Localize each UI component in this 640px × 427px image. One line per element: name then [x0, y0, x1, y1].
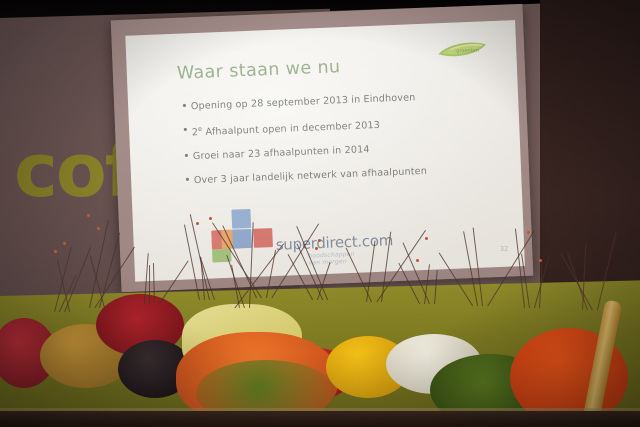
- list-item-text: Over 3 jaar landelijk netwerk van afhaal…: [194, 166, 428, 186]
- bullet-marker: •: [182, 124, 189, 135]
- svg-text:groenten: groenten: [456, 48, 479, 55]
- list-item-text: Groei naar 23 afhaalpunten in 2014: [193, 144, 370, 162]
- logo-tiles: [210, 208, 274, 256]
- slide-bullet-list: • Opening op 28 september 2013 in Eindho…: [181, 88, 515, 199]
- dried-branch: [149, 265, 150, 304]
- bullet-marker: •: [181, 100, 188, 111]
- logo-wordmark: superdirect.com: [275, 231, 393, 254]
- list-item: • Groei naar 23 afhaalpunten in 2014: [183, 139, 513, 163]
- list-item: • 2e Afhaalpunt open in december 2013: [182, 112, 512, 138]
- list-item: • Opening op 28 september 2013 in Eindho…: [181, 88, 511, 112]
- dried-berry: [527, 231, 530, 234]
- list-item-text: Opening op 28 september 2013 in Eindhove…: [191, 92, 416, 112]
- logo-tile-blue-top: [231, 209, 251, 229]
- dried-berry: [425, 237, 428, 240]
- list-item-text: 2e Afhaalpunt open in december 2013: [192, 118, 381, 139]
- slide-page-number: 32: [500, 245, 509, 253]
- dried-berry: [196, 222, 199, 225]
- photo-scene: cof groenten Waar staan we nu • Opening …: [0, 0, 640, 427]
- projection-screen: groenten Waar staan we nu • Opening op 2…: [111, 4, 534, 292]
- stage-front-strip: [0, 411, 640, 427]
- logo-tile-red-right: [253, 228, 273, 248]
- superdirect-logo: superdirect.com boodschappen van morgen: [210, 208, 274, 256]
- bullet-marker: •: [184, 174, 191, 185]
- dried-berry: [97, 227, 100, 230]
- green-leaf-logo: groenten: [436, 39, 495, 61]
- dried-berry: [209, 217, 212, 220]
- slide-title: Waar staan we nu: [177, 57, 341, 84]
- dried-berry: [54, 250, 57, 253]
- dried-berry: [315, 247, 318, 250]
- vegetable-display: [0, 296, 640, 416]
- logo-tile-blue-mid: [232, 229, 252, 249]
- list-item: • Over 3 jaar landelijk netwerk van afha…: [184, 163, 514, 187]
- bullet-marker: •: [183, 151, 190, 162]
